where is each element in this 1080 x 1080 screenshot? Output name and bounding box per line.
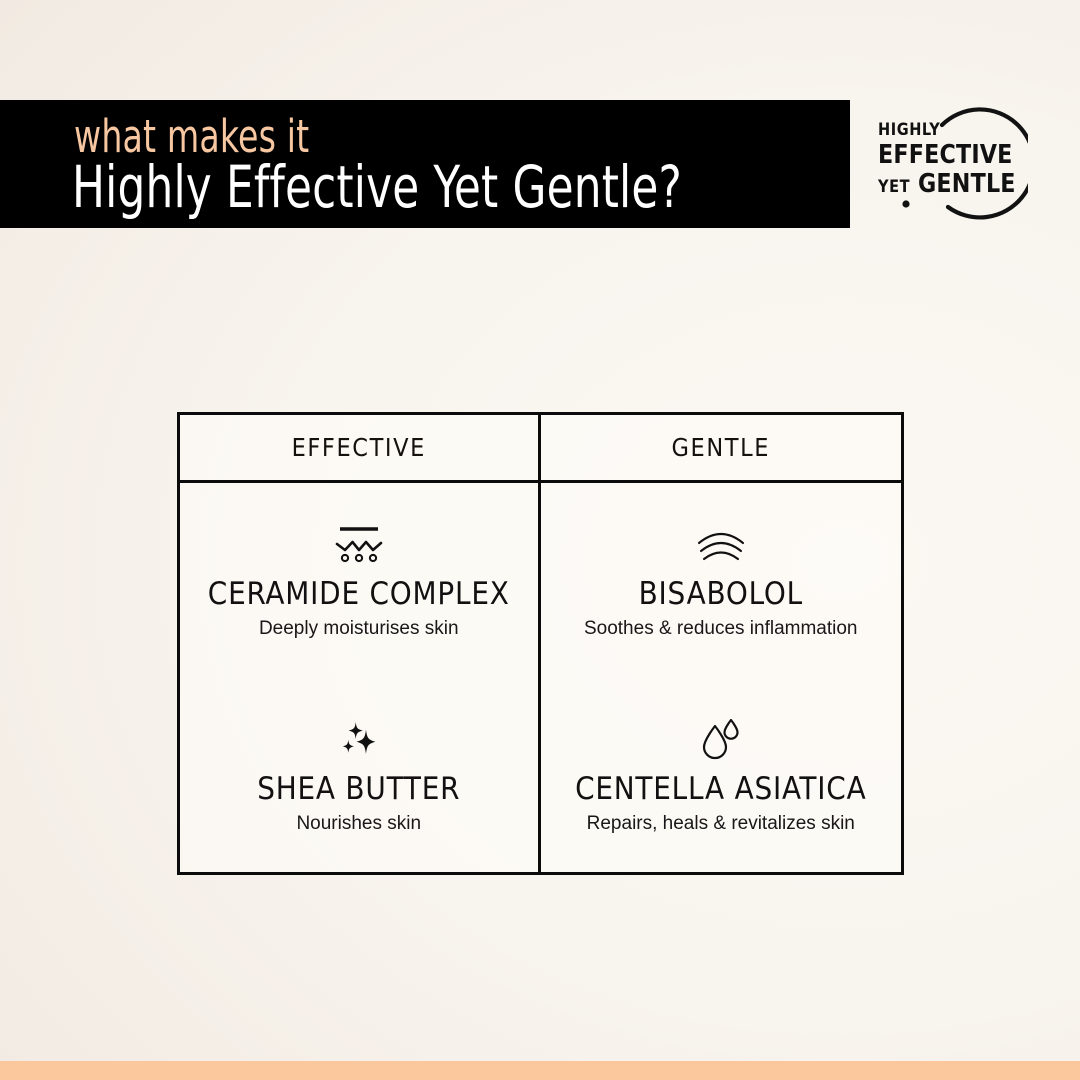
ingredient-description: Nourishes skin xyxy=(296,812,421,836)
logo-line-effective: EFFECTIVE xyxy=(878,141,1019,169)
sparkles-icon xyxy=(329,714,389,760)
soothing-waves-icon xyxy=(691,519,751,565)
ingredient-ceramide-complex: CERAMIDE COMPLEX Deeply moisturises skin xyxy=(180,483,538,678)
ingredient-description: Soothes & reduces inflammation xyxy=(584,617,858,641)
headline-title: Highly Effective Yet Gentle? xyxy=(72,156,682,218)
logo-line-highly: HIGHLY xyxy=(878,120,1019,140)
headline-banner: what makes it Highly Effective Yet Gentl… xyxy=(0,100,850,228)
ingredients-table: EFFECTIVE GENTLE CERAMIDE xyxy=(177,412,904,875)
ingredient-description: Repairs, heals & revitalizes skin xyxy=(587,812,855,836)
logo-word-gentle: GENTLE xyxy=(918,169,1016,199)
ingredient-centella-asiatica: CENTELLA ASIATICA Repairs, heals & revit… xyxy=(541,678,902,873)
table-body: CERAMIDE COMPLEX Deeply moisturises skin… xyxy=(180,483,901,872)
ingredient-bisabolol: BISABOLOL Soothes & reduces inflammation xyxy=(541,483,902,678)
ingredient-shea-butter: SHEA BUTTER Nourishes skin xyxy=(180,678,538,873)
logo-wordmark: HIGHLY EFFECTIVE YET GENTLE xyxy=(878,120,1026,201)
ingredient-name: CENTELLA ASIATICA xyxy=(575,772,866,806)
logo-line-yet-gentle: YET GENTLE xyxy=(878,170,1019,201)
water-droplets-icon xyxy=(693,714,749,760)
ingredient-name: BISABOLOL xyxy=(639,577,803,611)
ingredient-name: CERAMIDE COMPLEX xyxy=(208,577,510,611)
ingredient-name: SHEA BUTTER xyxy=(257,772,460,806)
table-header-row: EFFECTIVE GENTLE xyxy=(180,415,901,483)
ingredient-description: Deeply moisturises skin xyxy=(259,617,459,641)
bottom-accent-strip xyxy=(0,1061,1080,1080)
skin-layers-icon xyxy=(329,519,389,565)
logo-word-yet: YET xyxy=(878,177,910,197)
table-header-effective: EFFECTIVE xyxy=(180,415,541,480)
table-column-effective: CERAMIDE COMPLEX Deeply moisturises skin… xyxy=(180,483,541,872)
table-header-gentle: GENTLE xyxy=(541,415,902,480)
table-column-gentle: BISABOLOL Soothes & reduces inflammation… xyxy=(541,483,902,872)
brand-logo: HIGHLY EFFECTIVE YET GENTLE xyxy=(868,98,1028,234)
poster-canvas: what makes it Highly Effective Yet Gentl… xyxy=(0,0,1080,1080)
